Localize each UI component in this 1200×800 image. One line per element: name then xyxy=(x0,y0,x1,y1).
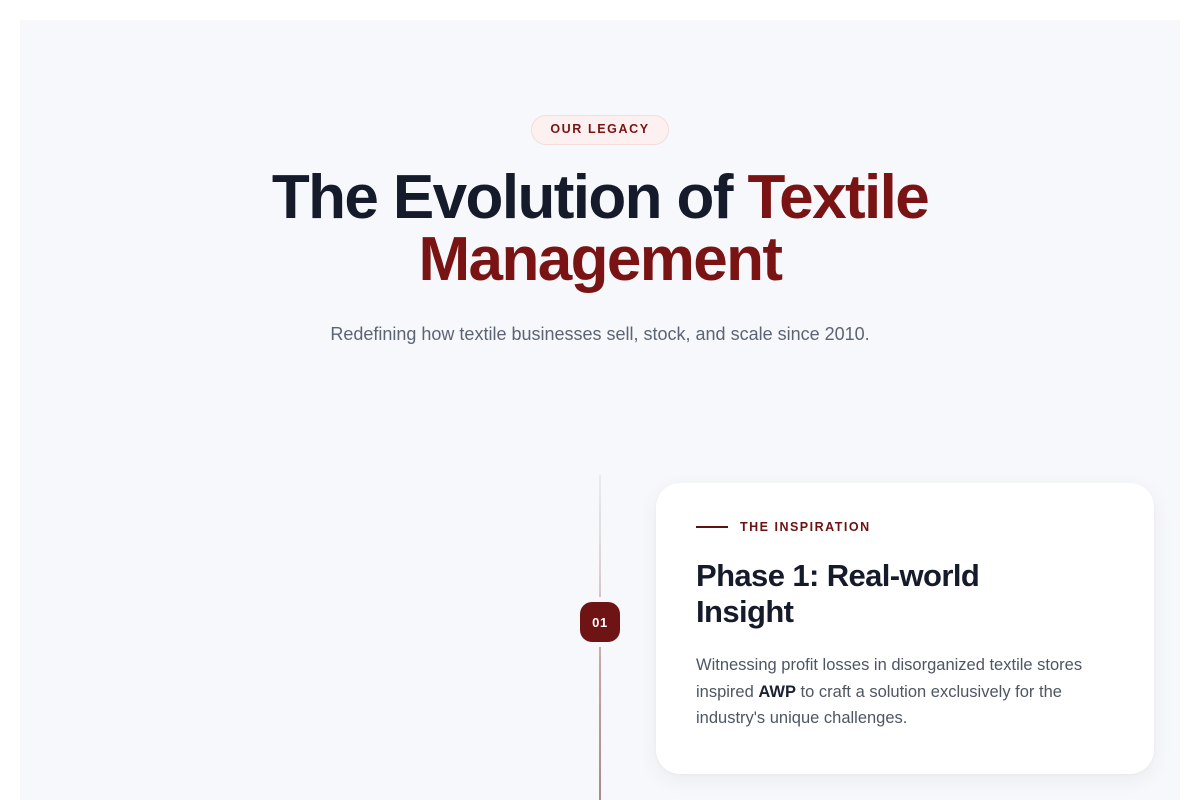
kicker-rule-icon xyxy=(696,526,728,528)
card-title: Phase 1: Real-world Insight xyxy=(696,558,1036,631)
legacy-section: OUR LEGACY The Evolution of Textile Mana… xyxy=(20,20,1180,800)
card-body-emphasis: AWP xyxy=(758,683,796,701)
timeline: 01 THE INSPIRATION Phase 1: Real-world I… xyxy=(20,20,1180,800)
timeline-item-01: 01 THE INSPIRATION Phase 1: Real-world I… xyxy=(20,465,1180,765)
timeline-node-badge[interactable]: 01 xyxy=(580,602,620,642)
phase-card[interactable]: THE INSPIRATION Phase 1: Real-world Insi… xyxy=(656,483,1154,774)
card-kicker-label: THE INSPIRATION xyxy=(740,521,871,534)
card-body: Witnessing profit losses in disorganized… xyxy=(696,652,1114,732)
card-kicker: THE INSPIRATION xyxy=(696,521,1114,534)
page-root: OUR LEGACY The Evolution of Textile Mana… xyxy=(0,0,1200,800)
